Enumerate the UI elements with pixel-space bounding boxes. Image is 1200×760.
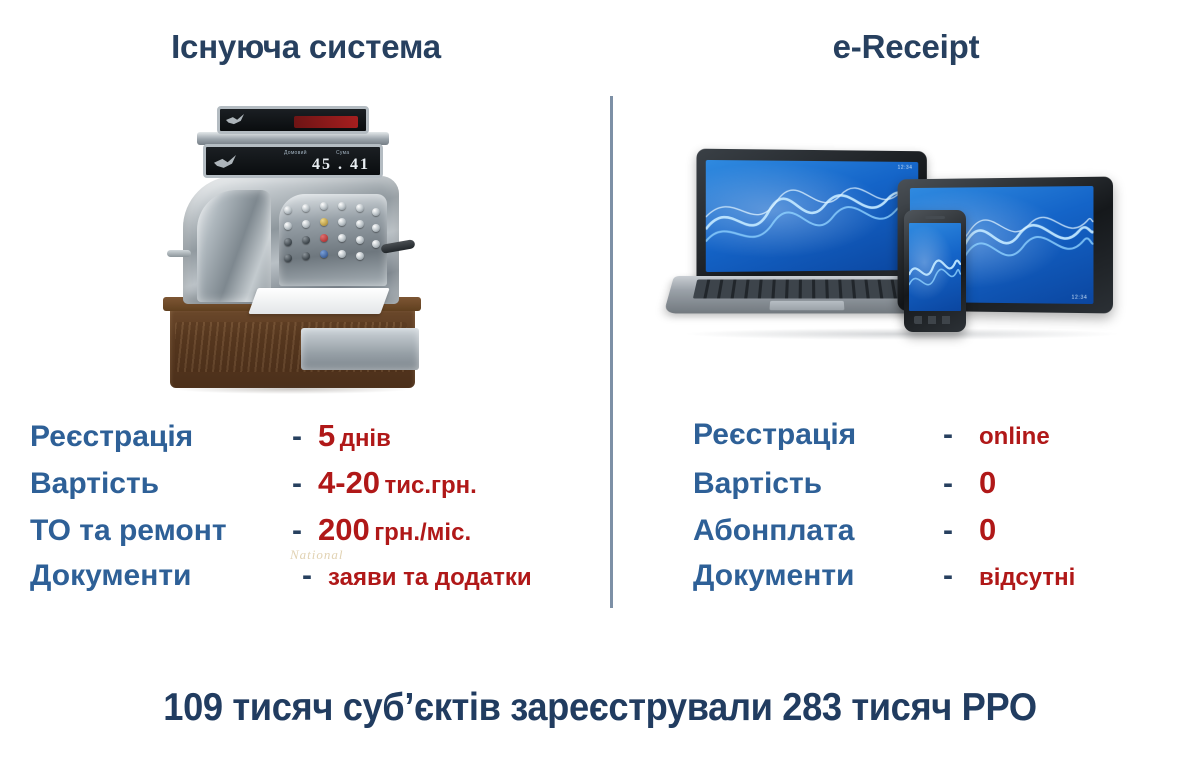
smartphone-icon <box>904 210 966 332</box>
register-eagle-emblem-top <box>226 114 244 125</box>
register-display-label-1: Домовий <box>284 150 307 156</box>
spec-row: Документи - заяви та додатки <box>30 559 600 606</box>
spec-label: Документи <box>693 559 943 593</box>
spec-value-unit: грн./міс. <box>374 519 471 546</box>
devices-drop-shadow <box>682 328 1122 340</box>
spec-dash: - <box>943 559 977 593</box>
spec-label: ТО та ремонт <box>30 514 292 548</box>
laptop-screen: 12:34 <box>706 160 918 272</box>
register-receipt-paper <box>248 288 389 314</box>
spec-value-number: 0 <box>979 465 996 500</box>
spec-dash: - <box>302 559 322 593</box>
register-metal-body <box>183 176 399 304</box>
left-spec-list: Реєстрація - 5 днів Вартість - 4-20 тис.… <box>30 418 600 606</box>
spec-row: Документи - відсутні <box>693 559 1163 606</box>
spec-value: 4-20 тис.грн. <box>318 465 477 501</box>
register-top-display <box>217 106 369 134</box>
spec-value-unit: тис.грн. <box>385 472 477 499</box>
spec-row: Вартість - 0 <box>693 465 1163 512</box>
register-side-drum <box>197 190 271 302</box>
spec-value-number: 5 <box>318 418 335 453</box>
spec-dash: - <box>292 514 312 548</box>
digital-devices-image: 12:34 12:34 <box>672 142 1132 342</box>
spec-value-number: 4-20 <box>318 465 380 500</box>
spec-value-number: 0 <box>979 512 996 547</box>
register-display-value: 45 . 41 <box>312 156 370 174</box>
register-eagle-emblem <box>214 155 236 169</box>
spec-label: Документи <box>30 559 292 593</box>
spec-value: 200 грн./міс. <box>318 512 471 548</box>
spec-row: Реєстрація - online <box>693 418 1163 465</box>
spec-dash: - <box>943 514 977 548</box>
spec-row: Абонплата - 0 <box>693 512 1163 559</box>
right-column-title: e-Receipt <box>612 28 1200 66</box>
spec-label: Реєстрація <box>30 420 292 454</box>
right-spec-list: Реєстрація - online Вартість - 0 Абонпла… <box>693 418 1163 606</box>
spec-value: відсутні <box>979 564 1075 592</box>
phone-screen <box>909 223 961 311</box>
spec-label: Вартість <box>693 467 943 501</box>
spec-value: online <box>979 423 1050 451</box>
spec-value: 5 днів <box>318 418 391 454</box>
spec-label: Абонплата <box>693 514 943 548</box>
spec-value: 0 <box>979 465 996 501</box>
spec-value: заяви та додатки <box>328 564 532 592</box>
column-divider <box>610 96 613 608</box>
laptop-trackpad[interactable] <box>769 301 844 310</box>
left-column-title: Існуюча система <box>0 28 612 66</box>
register-drop-shadow <box>175 384 409 394</box>
spec-row: Реєстрація - 5 днів <box>30 418 600 465</box>
slide-canvas: Існуюча система e-Receipt National <box>0 0 1200 760</box>
laptop-statusbar: 12:34 <box>898 165 913 171</box>
register-side-lever[interactable] <box>167 250 191 257</box>
register-key-grid <box>282 202 384 280</box>
antique-cash-register-image: National <box>145 98 435 398</box>
laptop-keyboard[interactable] <box>693 279 923 298</box>
spec-dash: - <box>943 467 977 501</box>
register-red-indicator <box>294 116 358 128</box>
spec-label: Вартість <box>30 467 292 501</box>
phone-home-buttons[interactable] <box>914 316 956 324</box>
spec-value: 0 <box>979 512 996 548</box>
spec-row: ТО та ремонт - 200 грн./міс. <box>30 512 600 559</box>
spec-row: Вартість - 4-20 тис.грн. <box>30 465 600 512</box>
tablet-statusbar: 12:34 <box>1072 295 1088 301</box>
summary-footer-text: 109 тисяч суб’єктів зареєстрували 283 ти… <box>42 686 1158 730</box>
spec-value-unit: днів <box>340 425 391 452</box>
register-amount-display: Домовий Сума 45 . 41 <box>203 144 383 178</box>
spec-label: Реєстрація <box>693 418 943 452</box>
laptop-lid: 12:34 <box>696 149 926 284</box>
register-cash-drawer[interactable] <box>301 328 419 370</box>
spec-dash: - <box>943 418 977 452</box>
phone-earpiece <box>925 216 945 219</box>
spec-dash: - <box>292 467 312 501</box>
spec-dash: - <box>292 420 312 454</box>
spec-value-number: 200 <box>318 512 370 547</box>
